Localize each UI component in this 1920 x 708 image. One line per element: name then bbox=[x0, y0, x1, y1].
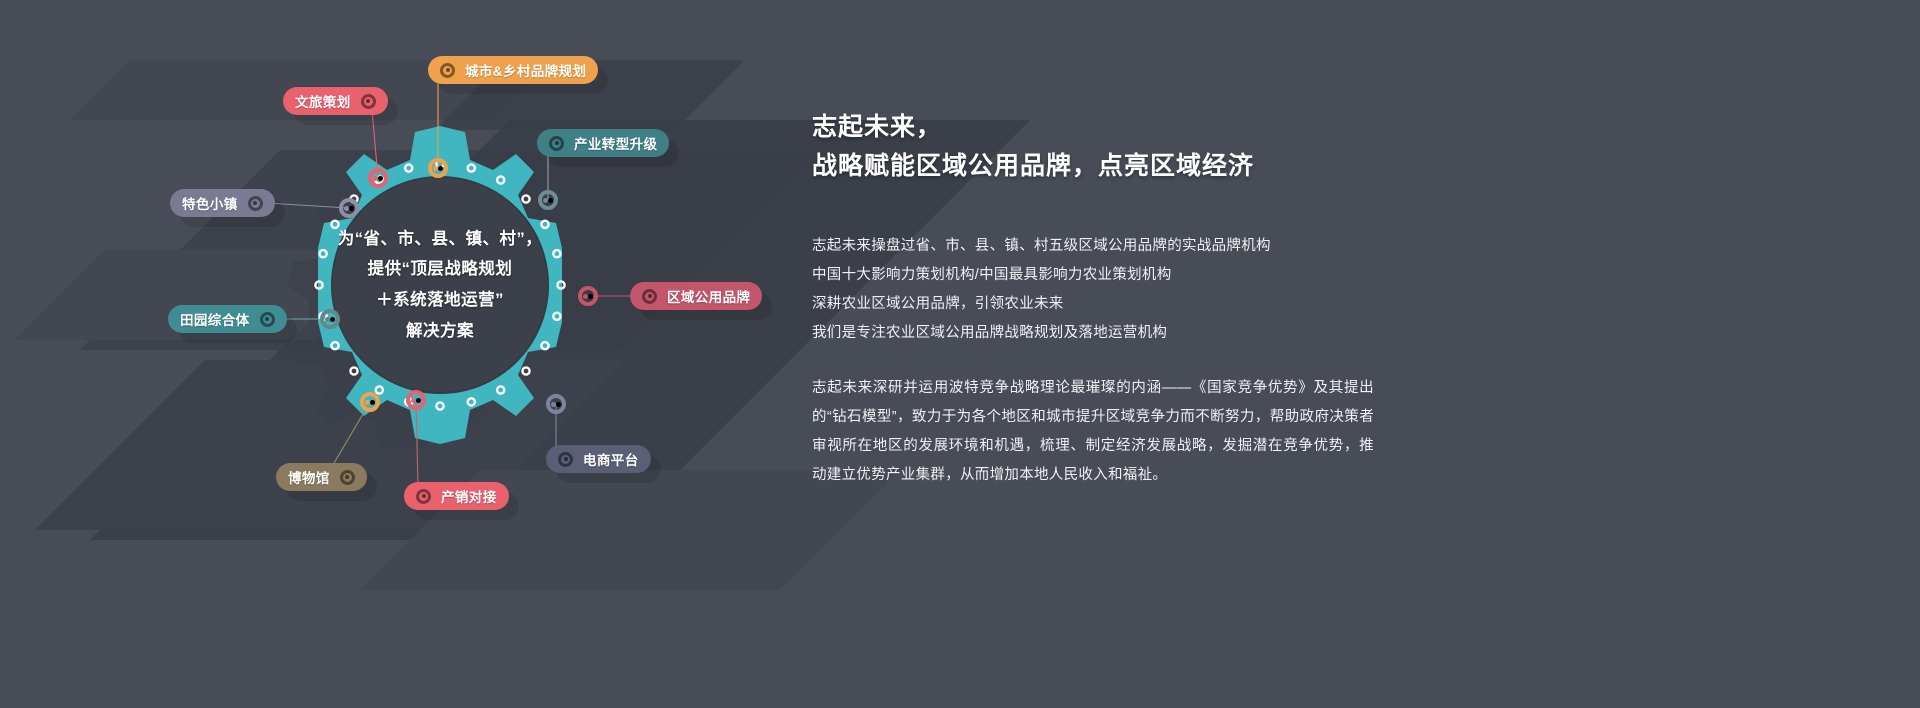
pill-industry-upgrade[interactable]: 产业转型升级 bbox=[537, 129, 669, 157]
pill-label: 特色小镇 bbox=[182, 193, 238, 213]
poster-canvas: 为“省、市、县、镇、村”， 提供“顶层战略规划 ＋系统落地运营” 解决方案 bbox=[0, 0, 1920, 708]
pill-production-sales-matching[interactable]: 产销对接 bbox=[404, 482, 509, 510]
pill-dot-icon bbox=[440, 63, 455, 78]
node-marker-ecommerce bbox=[546, 394, 566, 414]
paragraph-bullets: 志起未来操盘过省、市、县、镇、村五级区域公用品牌的实战品牌机构 中国十大影响力策… bbox=[812, 232, 1412, 348]
node-marker-industry bbox=[538, 190, 558, 210]
connector-town bbox=[266, 203, 348, 208]
headline-line-2: 战略赋能区域公用品牌，点亮区域经济 bbox=[812, 147, 1412, 186]
pill-label: 田园综合体 bbox=[180, 309, 250, 329]
pill-dot-icon bbox=[260, 312, 275, 327]
headline: 志起未来， 战略赋能区域公用品牌，点亮区域经济 bbox=[812, 108, 1412, 186]
pill-regional-public-brand[interactable]: 区域公用品牌 bbox=[630, 282, 762, 310]
pill-dot-icon bbox=[549, 136, 564, 151]
pill-ecommerce-platform[interactable]: 电商平台 bbox=[546, 445, 651, 473]
pill-label: 区域公用品牌 bbox=[667, 286, 750, 306]
paragraph-line-2: 中国十大影响力策划机构/中国最具影响力农业策划机构 bbox=[812, 261, 1412, 290]
pill-characteristic-town[interactable]: 特色小镇 bbox=[170, 189, 275, 217]
node-marker-city bbox=[428, 158, 448, 178]
paragraph-line-1: 志起未来操盘过省、市、县、镇、村五级区域公用品牌的实战品牌机构 bbox=[812, 232, 1412, 261]
paragraph-line-3: 深耕农业区域公用品牌，引领农业未来 bbox=[812, 290, 1412, 319]
pill-label: 博物馆 bbox=[288, 467, 330, 487]
pill-dot-icon bbox=[558, 452, 573, 467]
node-marker-museum bbox=[360, 392, 380, 412]
pill-city-rural-brand-planning[interactable]: 城市&乡村品牌规划 bbox=[428, 56, 598, 84]
pill-dot-icon bbox=[248, 196, 263, 211]
pill-dot-icon bbox=[361, 94, 376, 109]
pill-dot-icon bbox=[642, 289, 657, 304]
node-marker-brand bbox=[578, 286, 598, 306]
pill-rural-complex[interactable]: 田园综合体 bbox=[168, 305, 287, 333]
pill-label: 电商平台 bbox=[583, 449, 639, 469]
pill-dot-icon bbox=[416, 489, 431, 504]
pill-label: 文旅策划 bbox=[295, 91, 351, 111]
pill-label: 产业转型升级 bbox=[574, 133, 657, 153]
node-marker-sales bbox=[406, 390, 426, 410]
node-marker-culture bbox=[368, 168, 388, 188]
headline-line-1: 志起未来， bbox=[812, 108, 1412, 147]
node-marker-town bbox=[339, 198, 359, 218]
pill-culture-tourism-planning[interactable]: 文旅策划 bbox=[283, 87, 388, 115]
pill-museum[interactable]: 博物馆 bbox=[276, 463, 367, 491]
node-marker-farm bbox=[320, 309, 340, 329]
pill-label: 城市&乡村品牌规划 bbox=[465, 60, 586, 80]
connector-museum bbox=[330, 402, 370, 470]
paragraph-line-4: 我们是专注农业区域公用品牌战略规划及落地运营机构 bbox=[812, 319, 1412, 348]
copy-column: 志起未来， 战略赋能区域公用品牌，点亮区域经济 志起未来操盘过省、市、县、镇、村… bbox=[812, 108, 1412, 516]
pill-label: 产销对接 bbox=[441, 486, 497, 506]
pill-dot-icon bbox=[340, 470, 355, 485]
paragraph-body: 志起未来深研并运用波特竞争战略理论最璀璨的内涵——《国家竞争优势》及其提出的“钻… bbox=[812, 374, 1374, 490]
connector-sales bbox=[416, 400, 418, 487]
